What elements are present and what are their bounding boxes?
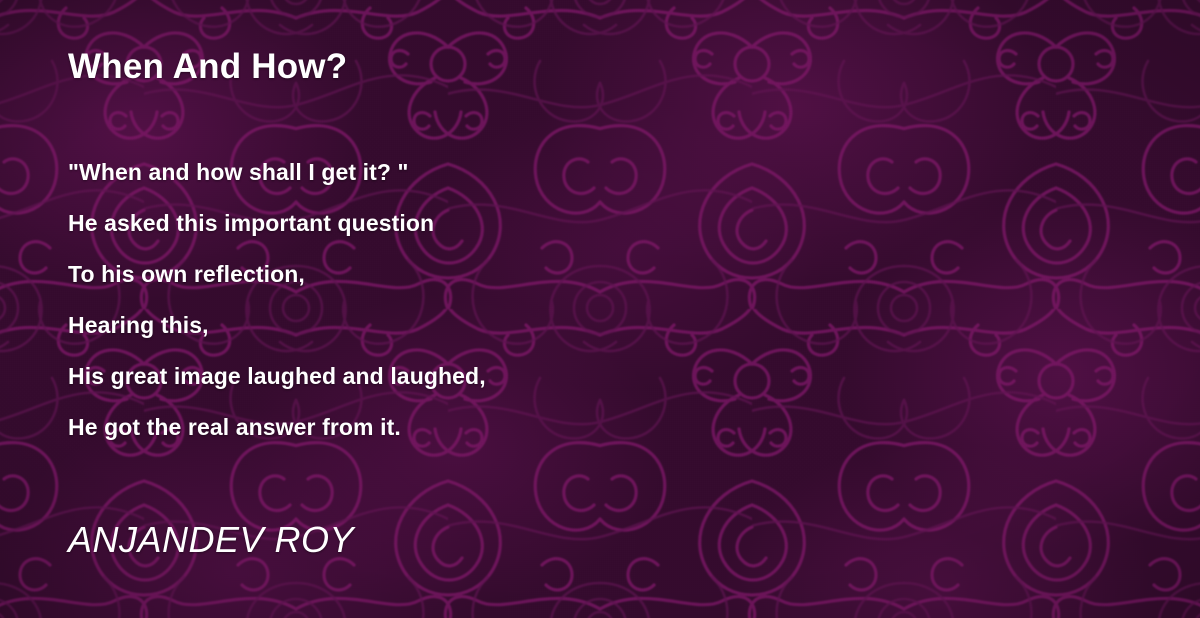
poem-line: He asked this important question <box>68 209 486 260</box>
page-title: When And How? <box>68 46 347 88</box>
poem-body: "When and how shall I get it? " He asked… <box>68 158 486 464</box>
poem-line: "When and how shall I get it? " <box>68 158 486 209</box>
poem-line: He got the real answer from it. <box>68 413 486 464</box>
poem-card: When And How? "When and how shall I get … <box>0 0 1200 618</box>
poem-line: Hearing this, <box>68 311 486 362</box>
poem-line: His great image laughed and laughed, <box>68 362 486 413</box>
poem-author-name: ANJANDEV ROY <box>68 519 354 561</box>
poem-line: To his own reflection, <box>68 260 486 311</box>
